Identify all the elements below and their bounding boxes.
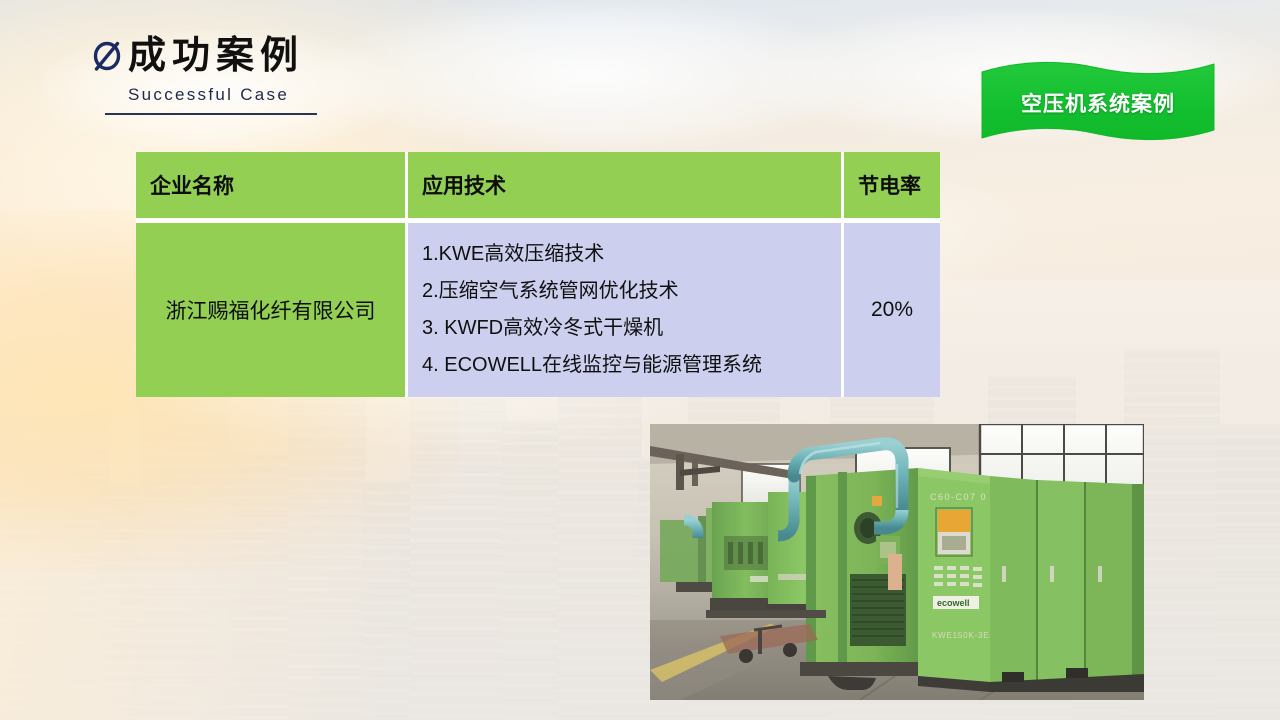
ribbon-label: 空压机系统案例: [976, 88, 1220, 118]
factory-compressors-image: C60-C07 0 ecowell KWE150K-3E/E: [650, 424, 1144, 700]
list-item: 2.压缩空气系统管网优化技术: [422, 273, 831, 310]
case-table: 企业名称 应用技术 节电率 浙江赐福化纤有限公司 1.KWE高效压缩技术 2.压…: [136, 152, 940, 397]
cell-saving-rate: 20%: [844, 223, 940, 397]
list-item: 3. KWFD高效冷冬式干燥机: [422, 310, 831, 347]
list-item: 4. ECOWELL在线监控与能源管理系统: [422, 347, 831, 384]
list-item: 1.KWE高效压缩技术: [422, 236, 831, 273]
table-row: 浙江赐福化纤有限公司 1.KWE高效压缩技术 2.压缩空气系统管网优化技术 3.…: [136, 223, 940, 397]
column-header-saving-rate: 节电率: [844, 152, 940, 223]
table-header: 企业名称 应用技术 节电率: [136, 152, 940, 223]
table-header-row: 企业名称 应用技术 节电率: [136, 152, 940, 223]
svg-text:KWE150K-3E/E: KWE150K-3E/E: [932, 631, 999, 640]
cell-technology-list: 1.KWE高效压缩技术 2.压缩空气系统管网优化技术 3. KWFD高效冷冬式干…: [408, 223, 844, 397]
svg-text:ecowell: ecowell: [937, 598, 970, 608]
null-slash-icon: [92, 39, 122, 73]
section-ribbon-banner: 空压机系统案例: [976, 58, 1220, 148]
slide-root: 成功案例 Successful Case 空压机系统案例: [0, 0, 1280, 720]
svg-text:C60-C07 0: C60-C07 0: [930, 492, 987, 502]
cell-company-name: 浙江赐福化纤有限公司: [136, 223, 408, 397]
page-subtitle: Successful Case: [128, 85, 317, 105]
heading-row: 成功案例: [92, 34, 317, 78]
technology-list: 1.KWE高效压缩技术 2.压缩空气系统管网优化技术 3. KWFD高效冷冬式干…: [422, 236, 831, 384]
case-photo: C60-C07 0 ecowell KWE150K-3E/E: [650, 424, 1144, 700]
page-title: 成功案例: [128, 34, 304, 78]
table-body: 浙江赐福化纤有限公司 1.KWE高效压缩技术 2.压缩空气系统管网优化技术 3.…: [136, 223, 940, 397]
heading-divider: [105, 113, 317, 115]
column-header-technology: 应用技术: [408, 152, 844, 223]
column-header-company: 企业名称: [136, 152, 408, 223]
slide-heading: 成功案例 Successful Case: [92, 34, 317, 115]
